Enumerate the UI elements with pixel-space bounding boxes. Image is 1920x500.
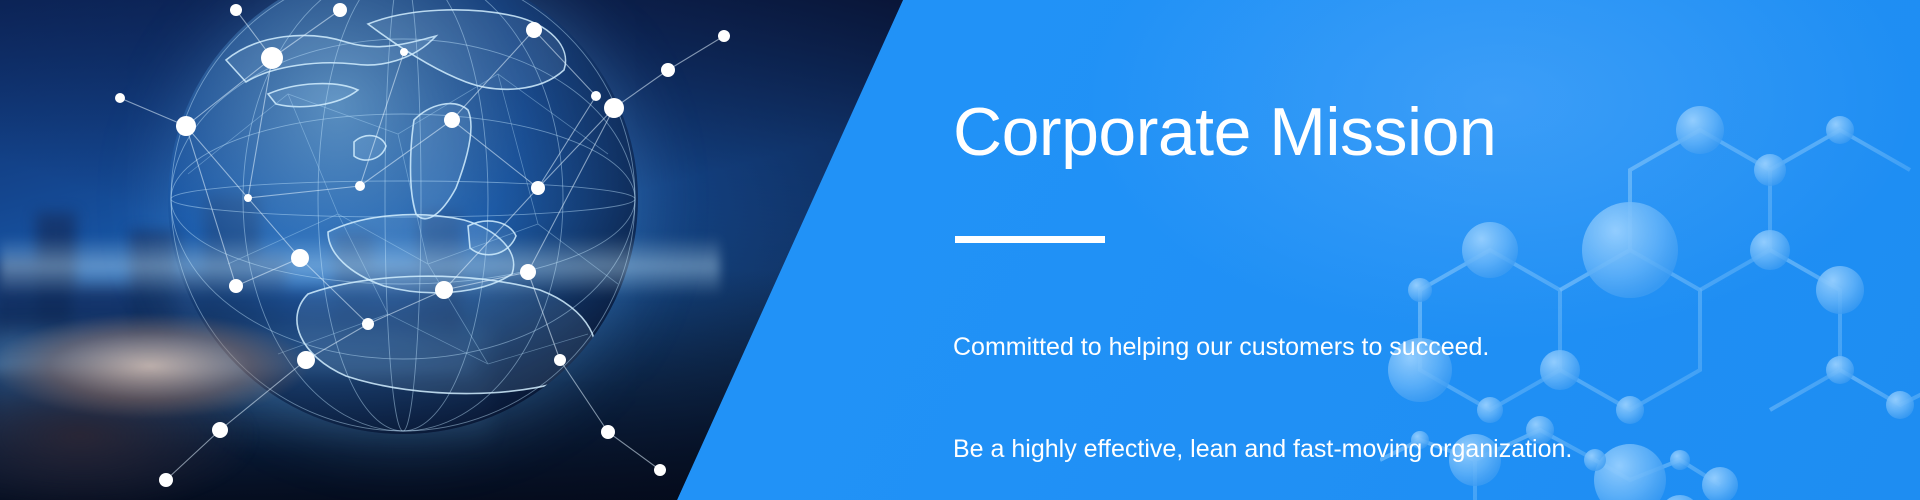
banner-content: Corporate Mission Committed to helping o… — [953, 0, 1653, 500]
mission-statement: Committed to helping our customers to su… — [953, 262, 1593, 500]
mission-line-1: Committed to helping our customers to su… — [953, 330, 1593, 364]
mission-line-2: Be a highly effective, lean and fast-mov… — [953, 432, 1593, 466]
page-title: Corporate Mission — [953, 98, 1496, 166]
title-underline-rule — [955, 236, 1105, 243]
corporate-mission-banner: Corporate Mission Committed to helping o… — [0, 0, 1920, 500]
